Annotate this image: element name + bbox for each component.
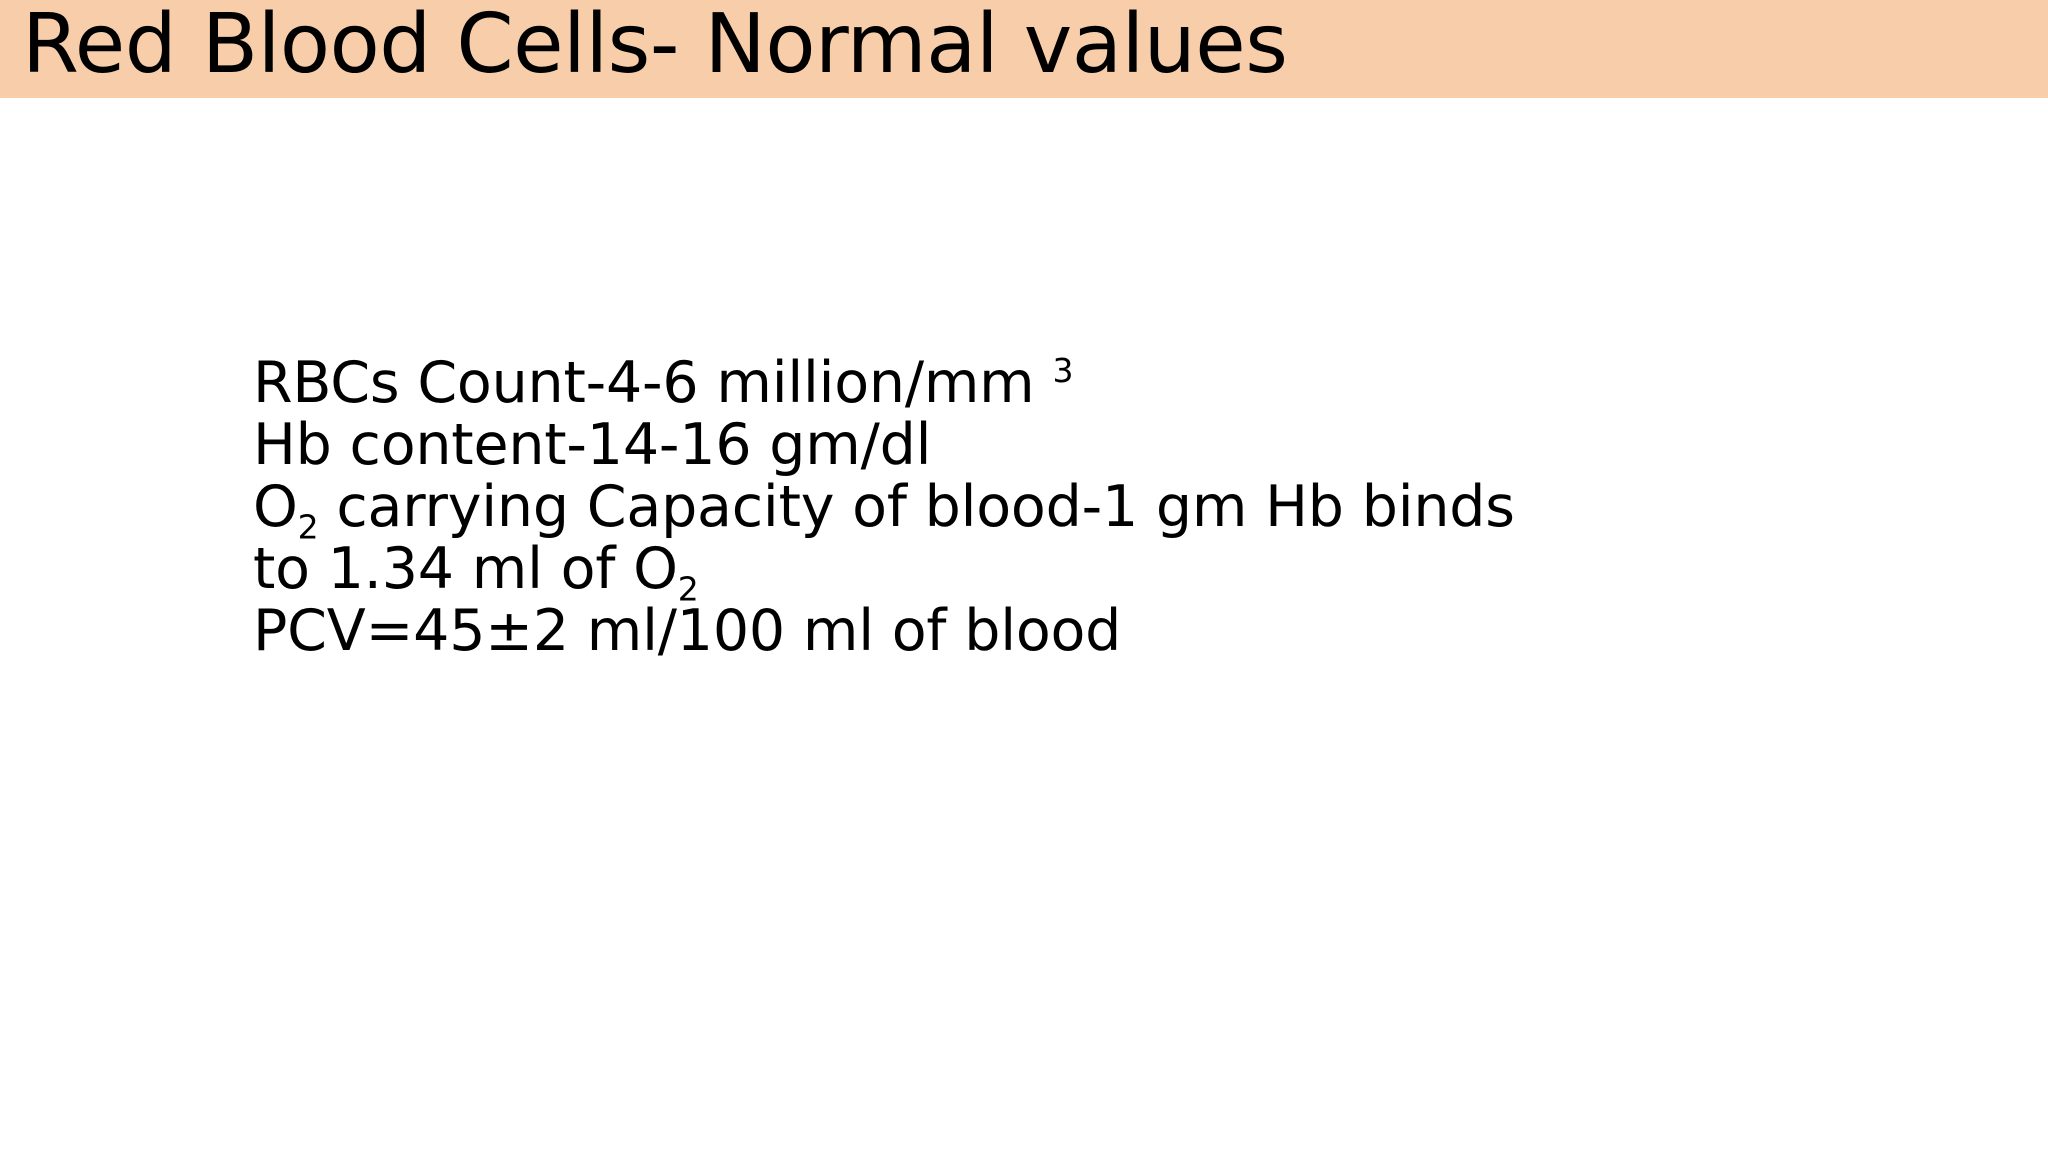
body-content: RBCs Count-4-6 million/mm 3 Hb content-1… — [253, 352, 1893, 662]
slide-canvas: { "slide": { "title": "Red Blood Cells- … — [0, 0, 2048, 1152]
body-line-o2-capacity-part2: to 1.34 ml of O2 — [253, 538, 1893, 600]
body-line-rbc-count: RBCs Count-4-6 million/mm 3 — [253, 352, 1893, 414]
title-banner: Red Blood Cells- Normal values — [0, 0, 2048, 98]
body-line-o2-capacity-part1: O2 carrying Capacity of blood-1 gm Hb bi… — [253, 476, 1893, 538]
body-line-text: RBCs Count-4-6 million/mm — [253, 350, 1052, 416]
body-line-text: O — [253, 474, 298, 540]
body-line-hb-content: Hb content-14-16 gm/dl — [253, 414, 1893, 476]
body-line-text: PCV=45±2 ml/100 ml of blood — [253, 598, 1121, 664]
body-line-text: Hb content-14-16 gm/dl — [253, 412, 931, 478]
body-line-pcv: PCV=45±2 ml/100 ml of blood — [253, 600, 1893, 662]
body-line-suffix: carrying Capacity of blood-1 gm Hb binds — [319, 474, 1515, 540]
body-line-text: to 1.34 ml of O — [253, 536, 678, 602]
page-title: Red Blood Cells- Normal values — [22, 0, 1287, 94]
superscript-3: 3 — [1052, 351, 1073, 390]
